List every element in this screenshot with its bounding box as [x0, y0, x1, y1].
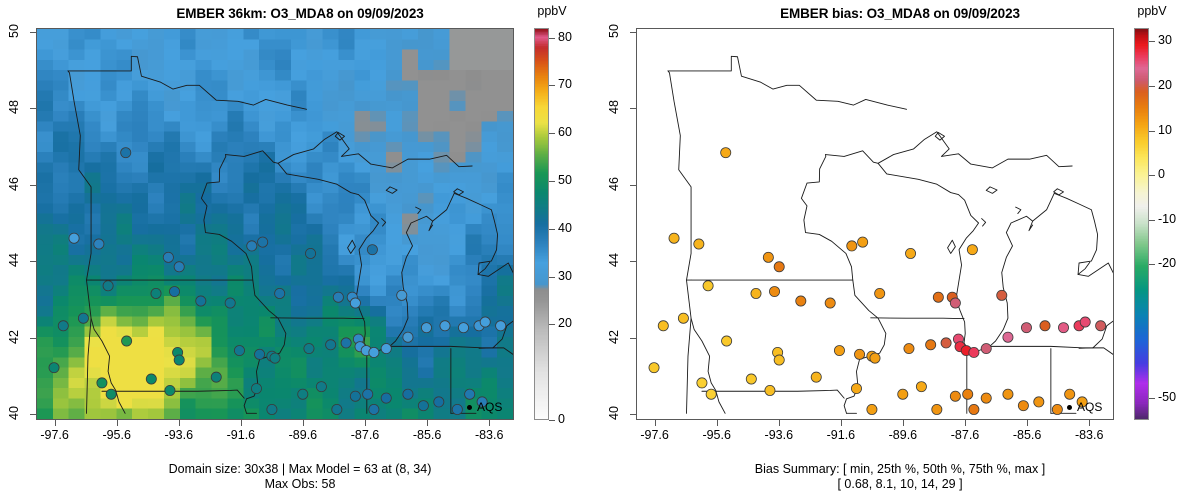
- legend-label-aqs: AQS: [1077, 400, 1102, 414]
- aqs-monitor-marker: [867, 404, 877, 414]
- aqs-monitor-marker: [870, 353, 880, 363]
- aqs-monitor-marker: [258, 237, 268, 247]
- y-axis-tick: [630, 261, 636, 262]
- x-axis-tick-label: -83.6: [1059, 428, 1119, 442]
- aqs-monitor-marker: [847, 241, 857, 251]
- aqs-monitor-marker: [174, 355, 184, 365]
- colorbar-tick: [549, 277, 555, 278]
- aqs-monitor-marker: [769, 286, 779, 296]
- aqs-monitor-marker: [332, 404, 342, 414]
- colorbar-tick-label: 60: [558, 125, 572, 139]
- y-axis-tick: [630, 32, 636, 33]
- aqs-monitor-marker: [316, 382, 326, 392]
- aqs-monitor-marker: [658, 321, 668, 331]
- aqs-monitor-marker: [225, 298, 235, 308]
- aqs-monitor-marker: [933, 292, 943, 302]
- aqs-monitor-marker: [926, 340, 936, 350]
- aqs-monitor-marker: [1065, 389, 1075, 399]
- aqs-monitor-marker: [363, 389, 373, 399]
- map-plot-bias: [636, 28, 1114, 420]
- legend-aqs-model: AQS: [467, 400, 502, 414]
- colorbar-title-model: ppbV: [522, 4, 582, 18]
- aqs-monitor-marker: [440, 321, 450, 331]
- colorbar-tick: [1149, 41, 1155, 42]
- aqs-monitor-marker: [211, 372, 221, 382]
- x-axis-tick: [903, 420, 904, 426]
- aqs-monitor-marker: [367, 245, 377, 255]
- aqs-monitor-marker: [763, 252, 773, 262]
- state-boundaries: [668, 56, 1113, 413]
- aqs-monitor-marker: [774, 355, 784, 365]
- aqs-monitor-marker: [898, 389, 908, 399]
- panel-bias: EMBER bias: O3_MDA8 on 09/09/2023 AQS -9…: [600, 0, 1200, 502]
- y-axis-tick: [30, 108, 36, 109]
- aqs-monitor-marker: [326, 340, 336, 350]
- colorbar-tick: [549, 324, 555, 325]
- x-axis-tick-label: -93.6: [149, 428, 209, 442]
- aqs-monitor-marker: [858, 237, 868, 247]
- aqs-monitor-marker: [69, 233, 79, 243]
- colorbar-tick-label: -20: [1158, 256, 1176, 270]
- aqs-monitor-marker: [950, 298, 960, 308]
- aqs-monitor-marker: [174, 262, 184, 272]
- aqs-monitor-marker: [694, 239, 704, 249]
- aqs-monitor-marker: [496, 321, 506, 331]
- aqs-monitor-marker: [774, 262, 784, 272]
- colorbar-tick-label: 70: [558, 77, 572, 91]
- aqs-monitor-marker: [796, 296, 806, 306]
- colorbar-tick-label: 0: [558, 412, 565, 426]
- y-axis-tick-label: 48: [607, 87, 621, 127]
- aqs-monitor-marker: [163, 252, 173, 262]
- aqs-monitor-marker: [350, 298, 360, 308]
- aqs-monitor-marker: [932, 404, 942, 414]
- aqs-marker-icon: [467, 405, 472, 410]
- y-axis-tick-label: 50: [607, 11, 621, 51]
- aqs-monitor-marker: [234, 345, 244, 355]
- aqs-monitor-marker: [997, 290, 1007, 300]
- y-axis-tick-label: 42: [7, 317, 21, 357]
- panel-title-bias: EMBER bias: O3_MDA8 on 09/09/2023: [600, 6, 1200, 21]
- aqs-monitor-marker: [963, 389, 973, 399]
- aqs-monitor-marker: [669, 233, 679, 243]
- colorbar-tick-label: 30: [558, 269, 572, 283]
- x-axis-tick: [55, 420, 56, 426]
- aqs-monitor-marker: [251, 383, 261, 393]
- aqs-monitor-marker: [916, 382, 926, 392]
- x-axis-tick: [1027, 420, 1028, 426]
- aqs-monitor-marker: [78, 313, 88, 323]
- x-axis-tick-label: -91.6: [811, 428, 871, 442]
- aqs-monitor-markers: [649, 148, 1106, 415]
- aqs-monitor-marker: [196, 296, 206, 306]
- y-axis-tick-label: 46: [7, 164, 21, 204]
- colorbar-tick: [549, 229, 555, 230]
- aqs-monitor-marker: [1096, 321, 1106, 331]
- x-axis-tick-label: -93.6: [749, 428, 809, 442]
- aqs-monitor-marker: [169, 286, 179, 296]
- aqs-monitor-marker: [97, 378, 107, 388]
- aqs-monitor-marker: [854, 349, 864, 359]
- y-axis-tick-label: 40: [7, 393, 21, 433]
- aqs-monitor-marker: [418, 401, 428, 411]
- aqs-monitor-marker: [875, 288, 885, 298]
- panel-title-model: EMBER 36km: O3_MDA8 on 09/09/2023: [0, 6, 600, 21]
- y-axis-tick-label: 44: [607, 240, 621, 280]
- colorbar-title-bias: ppbV: [1122, 4, 1182, 18]
- colorbar-tick: [549, 38, 555, 39]
- aqs-monitor-marker: [1021, 323, 1031, 333]
- colorbar-tick-label: 20: [1158, 78, 1172, 92]
- aqs-monitor-marker: [403, 389, 413, 399]
- aqs-monitor-marker: [825, 298, 835, 308]
- aqs-monitor-marker: [458, 323, 468, 333]
- x-axis-tick: [655, 420, 656, 426]
- aqs-monitor-marker: [1052, 404, 1062, 414]
- aqs-monitor-marker: [1003, 332, 1013, 342]
- colorbar-tick: [549, 85, 555, 86]
- aqs-monitor-marker: [751, 288, 761, 298]
- aqs-monitor-marker: [904, 343, 914, 353]
- colorbar-tick: [549, 133, 555, 134]
- legend-label-aqs: AQS: [477, 400, 502, 414]
- y-axis-tick: [30, 414, 36, 415]
- aqs-monitor-marker: [350, 391, 360, 401]
- aqs-monitor-marker: [950, 391, 960, 401]
- y-axis-tick-label: 48: [7, 87, 21, 127]
- caption-line1-bias: Bias Summary: [ min, 25th %, 50th %, 75t…: [600, 462, 1200, 477]
- aqs-monitor-marker: [834, 345, 844, 355]
- aqs-monitor-marker: [765, 385, 775, 395]
- x-axis-tick-label: -95.6: [87, 428, 147, 442]
- x-axis-tick-label: -97.6: [625, 428, 685, 442]
- colorbar-tick: [549, 420, 555, 421]
- colorbar-tick-label: -10: [1158, 212, 1176, 226]
- colorbar-tick: [1149, 175, 1155, 176]
- colorbar-tick-label: 10: [1158, 123, 1172, 137]
- aqs-monitor-marker: [697, 378, 707, 388]
- aqs-monitor-marker: [58, 321, 68, 331]
- aqs-monitor-marker: [146, 374, 156, 384]
- colorbar-tick-label: -50: [1158, 390, 1176, 404]
- aqs-monitor-marker: [381, 343, 391, 353]
- aqs-monitor-marker: [1080, 317, 1090, 327]
- colorbar-tick-label: 20: [558, 316, 572, 330]
- aqs-monitor-marker: [452, 404, 462, 414]
- aqs-monitor-marker: [341, 338, 351, 348]
- colorbar-tick: [1149, 398, 1155, 399]
- aqs-monitor-marker: [103, 281, 113, 291]
- panel-model: EMBER 36km: O3_MDA8 on 09/09/2023 AQS -9…: [0, 0, 600, 502]
- y-axis-tick-label: 42: [607, 317, 621, 357]
- aqs-monitor-marker: [1058, 323, 1068, 333]
- aqs-monitor-marker: [305, 248, 315, 258]
- x-axis-tick-label: -85.6: [997, 428, 1057, 442]
- x-axis-tick-label: -95.6: [687, 428, 747, 442]
- aqs-monitor-marker: [746, 374, 756, 384]
- aqs-monitor-marker: [905, 248, 915, 258]
- y-axis-tick: [630, 414, 636, 415]
- aqs-monitor-markers: [49, 148, 506, 415]
- aqs-monitor-marker: [121, 148, 131, 158]
- aqs-monitor-marker: [1040, 321, 1050, 331]
- aqs-monitor-marker: [981, 393, 991, 403]
- colorbar-gradient-model: [534, 28, 549, 420]
- aqs-monitor-marker: [381, 393, 391, 403]
- aqs-monitor-marker: [165, 385, 175, 395]
- aqs-monitor-marker: [703, 281, 713, 291]
- colorbar-tick: [1149, 220, 1155, 221]
- colorbar-tick-label: 0: [1158, 167, 1165, 181]
- aqs-monitor-marker: [722, 336, 732, 346]
- x-axis-tick-label: -89.6: [273, 428, 333, 442]
- aqs-monitor-marker: [851, 383, 861, 393]
- y-axis-tick-label: 50: [7, 11, 21, 51]
- aqs-monitor-marker: [369, 404, 379, 414]
- state-boundaries: [68, 56, 513, 413]
- x-axis-tick: [241, 420, 242, 426]
- y-axis-tick: [630, 108, 636, 109]
- x-axis-tick-label: -85.6: [397, 428, 457, 442]
- aqs-monitor-marker: [811, 372, 821, 382]
- aqs-monitor-marker: [298, 389, 308, 399]
- colorbar-tick-label: 40: [558, 221, 572, 235]
- map-overlay-model: [37, 29, 513, 419]
- x-axis-tick: [365, 420, 366, 426]
- x-axis-tick: [489, 420, 490, 426]
- y-axis-tick: [30, 185, 36, 186]
- aqs-monitor-marker: [1018, 401, 1028, 411]
- caption-line1-model: Domain size: 30x38 | Max Model = 63 at (…: [0, 462, 600, 477]
- x-axis-tick: [117, 420, 118, 426]
- aqs-monitor-marker: [967, 245, 977, 255]
- map-overlay-bias: [637, 29, 1113, 419]
- y-axis-tick: [30, 32, 36, 33]
- aqs-monitor-marker: [649, 363, 659, 373]
- caption-line2-model: Max Obs: 58: [0, 477, 600, 492]
- y-axis-tick-label: 44: [7, 240, 21, 280]
- aqs-monitor-marker: [969, 347, 979, 357]
- x-axis-tick: [841, 420, 842, 426]
- aqs-monitor-marker: [333, 292, 343, 302]
- colorbar-tick-label: 50: [558, 173, 572, 187]
- aqs-monitor-marker: [151, 288, 161, 298]
- aqs-monitor-marker: [369, 347, 379, 357]
- aqs-monitor-marker: [981, 343, 991, 353]
- colorbar-tick: [1149, 86, 1155, 87]
- x-axis-tick: [179, 420, 180, 426]
- aqs-monitor-marker: [247, 241, 257, 251]
- aqs-monitor-marker: [480, 317, 490, 327]
- x-axis-tick: [303, 420, 304, 426]
- colorbar-tick: [1149, 131, 1155, 132]
- aqs-monitor-marker: [721, 148, 731, 158]
- aqs-monitor-marker: [403, 332, 413, 342]
- aqs-monitor-marker: [969, 404, 979, 414]
- aqs-monitor-marker: [397, 290, 407, 300]
- colorbar-tick: [549, 181, 555, 182]
- map-plot-model: [36, 28, 514, 420]
- aqs-monitor-marker: [304, 343, 314, 353]
- aqs-monitor-marker: [1003, 389, 1013, 399]
- aqs-monitor-marker: [434, 397, 444, 407]
- legend-aqs-bias: AQS: [1067, 400, 1102, 414]
- caption-line2-bias: [ 0.68, 8.1, 10, 14, 29 ]: [600, 477, 1200, 492]
- colorbar-gradient-bias: [1134, 28, 1149, 420]
- x-axis-tick-label: -97.6: [25, 428, 85, 442]
- aqs-marker-icon: [1067, 405, 1072, 410]
- aqs-monitor-marker: [706, 389, 716, 399]
- aqs-monitor-marker: [421, 323, 431, 333]
- aqs-monitor-marker: [49, 363, 59, 373]
- aqs-monitor-marker: [941, 338, 951, 348]
- aqs-monitor-marker: [254, 349, 264, 359]
- y-axis-tick: [30, 338, 36, 339]
- y-axis-tick: [630, 185, 636, 186]
- aqs-monitor-marker: [106, 389, 116, 399]
- aqs-monitor-marker: [122, 336, 132, 346]
- x-axis-tick: [1089, 420, 1090, 426]
- y-axis-tick-label: 40: [607, 393, 621, 433]
- y-axis-tick-label: 46: [607, 164, 621, 204]
- aqs-monitor-marker: [270, 353, 280, 363]
- x-axis-tick: [717, 420, 718, 426]
- aqs-monitor-marker: [678, 313, 688, 323]
- aqs-monitor-marker: [275, 288, 285, 298]
- x-axis-tick: [965, 420, 966, 426]
- figure-canvas: EMBER 36km: O3_MDA8 on 09/09/2023 AQS -9…: [0, 0, 1200, 502]
- x-axis-tick-label: -91.6: [211, 428, 271, 442]
- x-axis-tick-label: -87.6: [335, 428, 395, 442]
- colorbar-tick-label: 30: [1158, 33, 1172, 47]
- x-axis-tick-label: -89.6: [873, 428, 933, 442]
- x-axis-tick-label: -87.6: [935, 428, 995, 442]
- aqs-monitor-marker: [94, 239, 104, 249]
- x-axis-tick: [779, 420, 780, 426]
- aqs-monitor-marker: [1034, 397, 1044, 407]
- y-axis-tick: [630, 338, 636, 339]
- colorbar-tick-label: 80: [558, 30, 572, 44]
- x-axis-tick: [427, 420, 428, 426]
- aqs-monitor-marker: [465, 389, 475, 399]
- y-axis-tick: [30, 261, 36, 262]
- x-axis-tick-label: -83.6: [459, 428, 519, 442]
- colorbar-tick: [1149, 264, 1155, 265]
- aqs-monitor-marker: [267, 404, 277, 414]
